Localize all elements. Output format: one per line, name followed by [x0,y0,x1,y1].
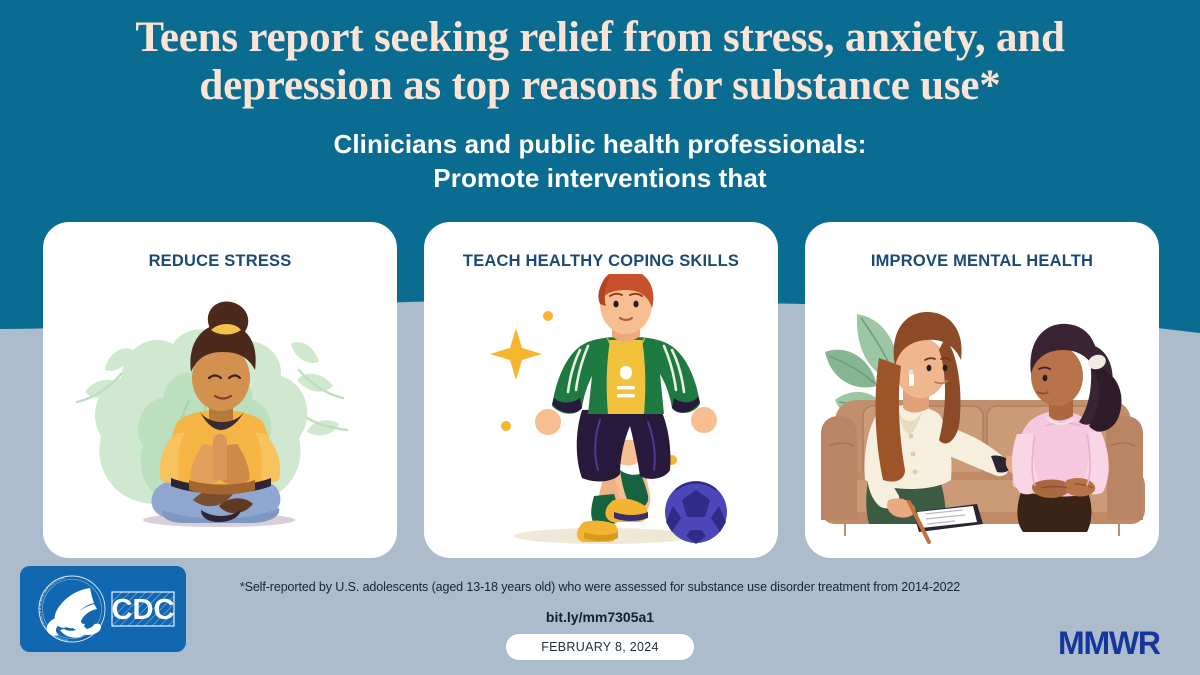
mmwr-logo[interactable]: MMWR [1058,625,1160,662]
yoga-meditation-icon [43,274,397,558]
infographic-canvas: Teens report seeking relief from stress,… [0,0,1200,675]
card-title-reduce-stress: REDUCE STRESS [43,252,397,271]
card-title-teach-healthy-coping-skills: TEACH HEALTHY COPING SKILLS [424,252,778,271]
therapy-session-icon [805,274,1159,558]
soccer-player-icon [424,274,778,558]
short-url-link[interactable]: bit.ly/mm7305a1 [180,609,1020,625]
subheading-line-1: Clinicians and public health professiona… [333,129,866,159]
card-teach-healthy-coping-skills: TEACH HEALTHY COPING SKILLS [424,222,778,558]
page-title: Teens report seeking relief from stress,… [45,14,1155,110]
subheading-line-2: Promote interventions that [100,162,1100,196]
cdc-logo-text: CDC [112,594,175,626]
cdc-wordmark: CDC [112,592,175,626]
card-improve-mental-health: IMPROVE MENTAL HEALTH [805,222,1159,558]
footnote-text: *Self-reported by U.S. adolescents (aged… [180,580,1020,594]
publication-date-badge: FEBRUARY 8, 2024 [506,634,694,660]
cdc-logo[interactable]: DEPARTMENT OF HEALTH & HUMAN SERVICES US… [20,566,186,652]
card-reduce-stress: REDUCE STRESS [43,222,397,558]
subheading: Clinicians and public health professiona… [100,128,1100,196]
header-block: Teens report seeking relief from stress,… [0,14,1200,196]
card-title-improve-mental-health: IMPROVE MENTAL HEALTH [805,252,1159,271]
